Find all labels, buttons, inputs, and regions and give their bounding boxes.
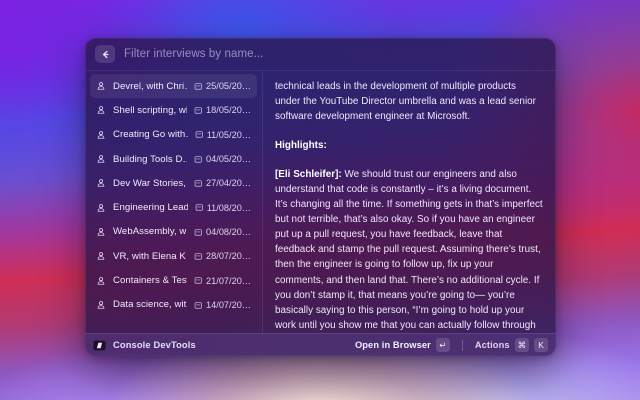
search-input[interactable] [124,48,546,60]
list-item[interactable]: Building Tools D…04/05/20… [90,147,257,171]
detail-pane[interactable]: technical leads in the development of mu… [263,71,556,333]
list-item-date-group: 21/07/20… [194,276,251,286]
person-icon [96,130,106,140]
calendar-icon [194,228,203,237]
list-item-date: 04/08/20… [206,227,251,237]
command-key-badge: ⌘ [515,338,529,352]
calendar-icon [195,130,204,139]
list-item-date: 27/04/20… [206,178,251,188]
quote-paragraph: [Eli Schleifer]: We should trust our eng… [275,167,544,333]
person-icon [96,105,106,115]
list-item-date: 11/05/20… [207,130,251,140]
raycast-logo-icon [93,339,106,352]
status-bar: Console DevTools Open in Browser ↵ Actio… [85,333,556,356]
open-in-browser-label: Open in Browser [355,340,431,350]
list-item-date: 25/05/20… [206,81,251,91]
intro-paragraph: technical leads in the development of mu… [275,79,544,124]
calendar-icon [194,276,203,285]
list-item[interactable]: Data science, wit…14/07/20… [90,293,257,317]
actions-label: Actions [475,340,510,350]
window-body: Devrel, with Chri…25/05/20…Shell scripti… [85,71,556,333]
list-item[interactable]: VR, with Elena K…28/07/20… [90,244,257,268]
list-item-title: Containers & Test… [113,275,187,286]
list-item-date-group: 04/05/20… [194,154,251,164]
search-bar [85,38,556,71]
person-icon [96,81,106,91]
list-item-date: 14/07/20… [206,300,251,310]
list-item[interactable]: Engineering Lead…11/08/20… [90,195,257,219]
list-item-title: Engineering Lead… [113,202,188,213]
list-item-title: Dev War Stories,… [113,178,187,189]
actions-menu-trigger[interactable]: Actions ⌘ K [475,338,548,352]
list-item[interactable]: Dev War Stories,…27/04/20… [90,171,257,195]
calendar-icon [194,82,203,91]
person-icon [96,276,106,286]
person-icon [96,154,106,164]
list-item-date-group: 04/08/20… [194,227,251,237]
list-item-date: 28/07/20… [206,251,251,261]
person-icon [96,178,106,188]
k-key-badge: K [534,338,548,352]
calendar-icon [194,252,203,261]
detail-content: technical leads in the development of mu… [275,79,544,333]
list-item[interactable]: Devrel, with Chri…25/05/20… [90,74,257,98]
calendar-icon [194,301,203,310]
list-item-title: Shell scripting, wi… [113,105,187,116]
list-item[interactable]: WebAssembly, w…04/08/20… [90,220,257,244]
app-name-label: Console DevTools [113,340,196,350]
open-in-browser-action[interactable]: Open in Browser ↵ [355,338,450,352]
list-item-title: WebAssembly, w… [113,226,187,237]
list-item[interactable]: Creating Go with…11/05/20… [90,123,257,147]
list-item-date-group: 27/04/20… [194,178,251,188]
calendar-icon [194,106,203,115]
list-item-date-group: 28/07/20… [194,251,251,261]
footer-divider [462,340,463,351]
arrow-left-icon[interactable] [95,45,115,63]
list-item-date: 21/07/20… [206,276,251,286]
list-item-title: Data science, wit… [113,299,187,310]
highlights-heading: Highlights: [275,138,544,153]
list-item-date: 11/08/20… [207,203,251,213]
list-item-date: 04/05/20… [206,154,251,164]
quote-body: We should trust our engineers and also u… [275,169,543,333]
calendar-icon [195,203,204,212]
person-icon [96,227,106,237]
list-item-date-group: 25/05/20… [194,81,251,91]
paragraph-spacer [275,124,544,138]
person-icon [96,203,106,213]
list-item-date-group: 18/05/20… [194,105,251,115]
list-item-date-group: 11/08/20… [195,203,251,213]
paragraph-spacer [275,153,544,167]
person-icon [96,300,106,310]
interview-list[interactable]: Devrel, with Chri…25/05/20…Shell scripti… [85,71,263,333]
person-icon [96,251,106,261]
calendar-icon [194,179,203,188]
quote-speaker: [Eli Schleifer]: [275,169,342,180]
calendar-icon [194,155,203,164]
launcher-window: Devrel, with Chri…25/05/20…Shell scripti… [85,38,556,356]
list-item-title: Building Tools D… [113,154,187,165]
list-item-title: VR, with Elena K… [113,251,187,262]
enter-key-badge: ↵ [436,338,450,352]
list-item-title: Creating Go with… [113,129,188,140]
list-item[interactable]: Containers & Test…21/07/20… [90,268,257,292]
list-item[interactable]: Shell scripting, wi…18/05/20… [90,98,257,122]
list-item-title: Devrel, with Chri… [113,81,187,92]
list-item-date: 18/05/20… [206,105,251,115]
list-item-date-group: 14/07/20… [194,300,251,310]
list-item-date-group: 11/05/20… [195,130,251,140]
